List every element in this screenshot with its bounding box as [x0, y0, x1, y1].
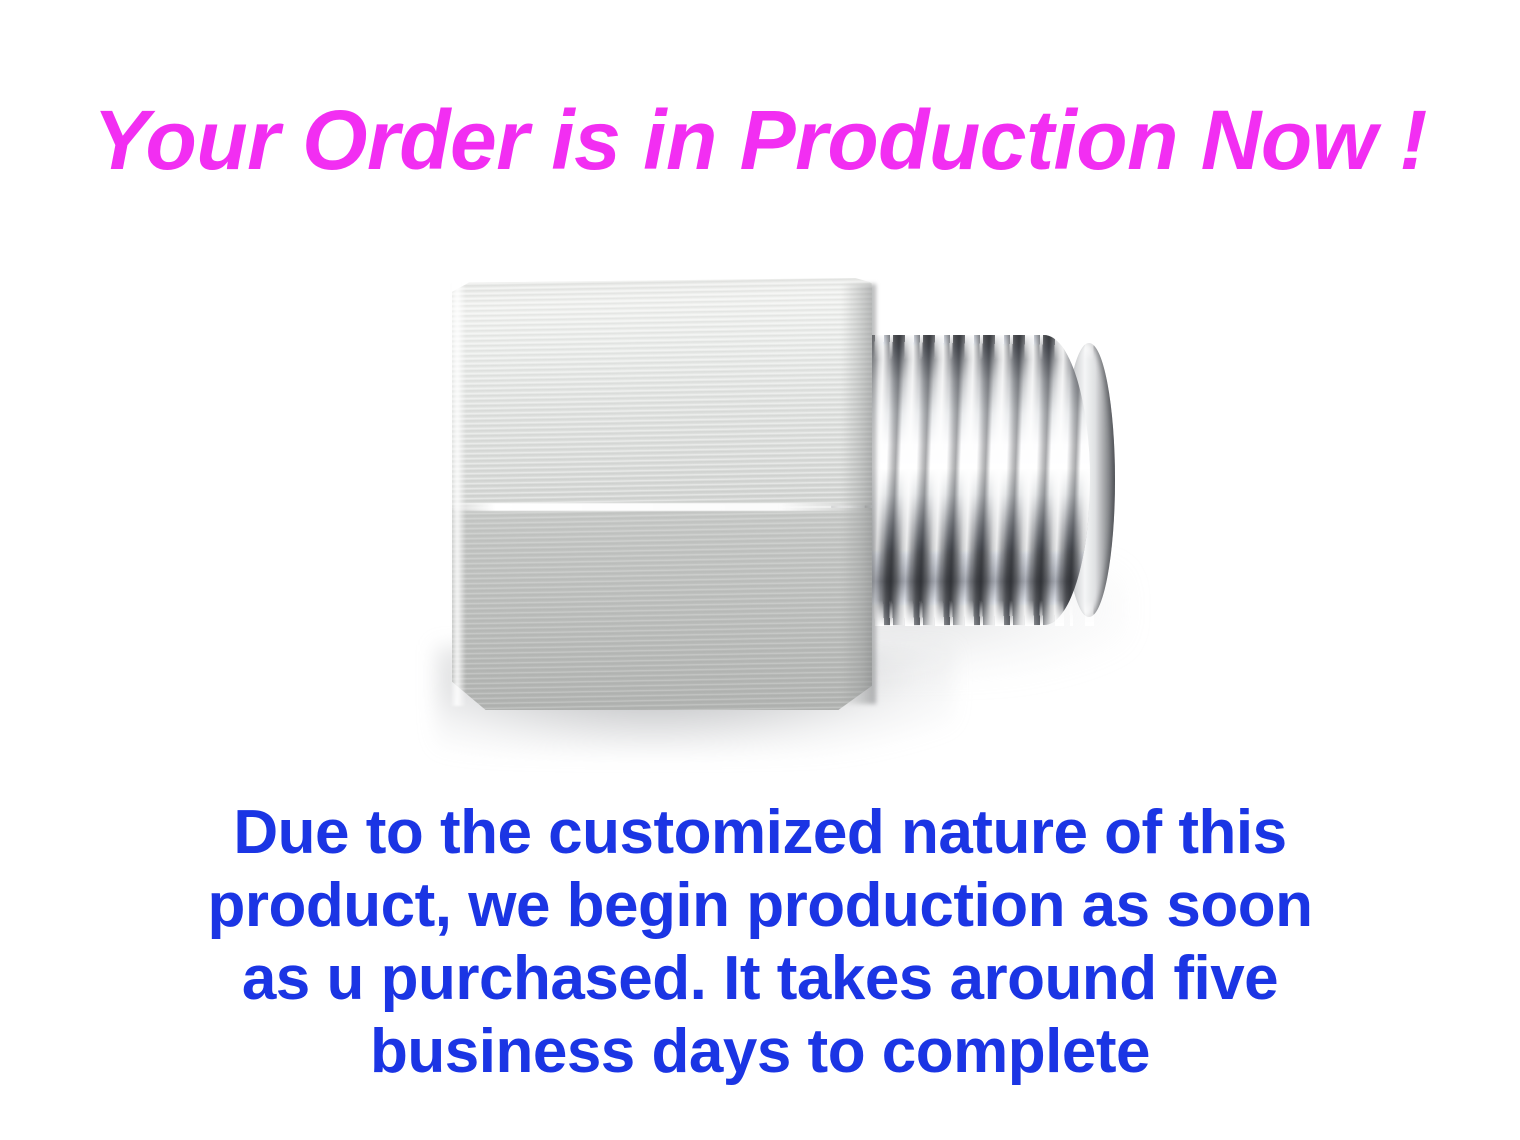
hex-face-lower [452, 508, 872, 710]
page-title: Your Order is in Production Now ! [0, 92, 1520, 188]
notice-line-3: as u purchased. It takes around five [0, 942, 1520, 1015]
notice-line-4: business days to complete [0, 1015, 1520, 1088]
hex-face-upper [452, 278, 872, 510]
production-notice-text: Due to the customized nature of this pro… [0, 796, 1520, 1088]
hex-left-chamfer [450, 282, 466, 706]
thread-teeth-bottom-edge [845, 600, 1097, 626]
hex-right-shoulder [842, 284, 876, 704]
male-thread-end [845, 335, 1115, 625]
notice-line-2: product, we begin production as soon [0, 869, 1520, 942]
product-photo [380, 230, 1180, 790]
thread-barrel [845, 335, 1090, 625]
hex-face-split-highlight [454, 503, 870, 511]
notice-line-1: Due to the customized nature of this [0, 796, 1520, 869]
promotional-notice-page: Your Order is in Production Now ! Due to [0, 0, 1520, 1140]
thread-ridge-shadows [845, 335, 1090, 625]
hex-nut-body [452, 278, 872, 710]
thread-teeth-top-edge [845, 334, 1097, 360]
